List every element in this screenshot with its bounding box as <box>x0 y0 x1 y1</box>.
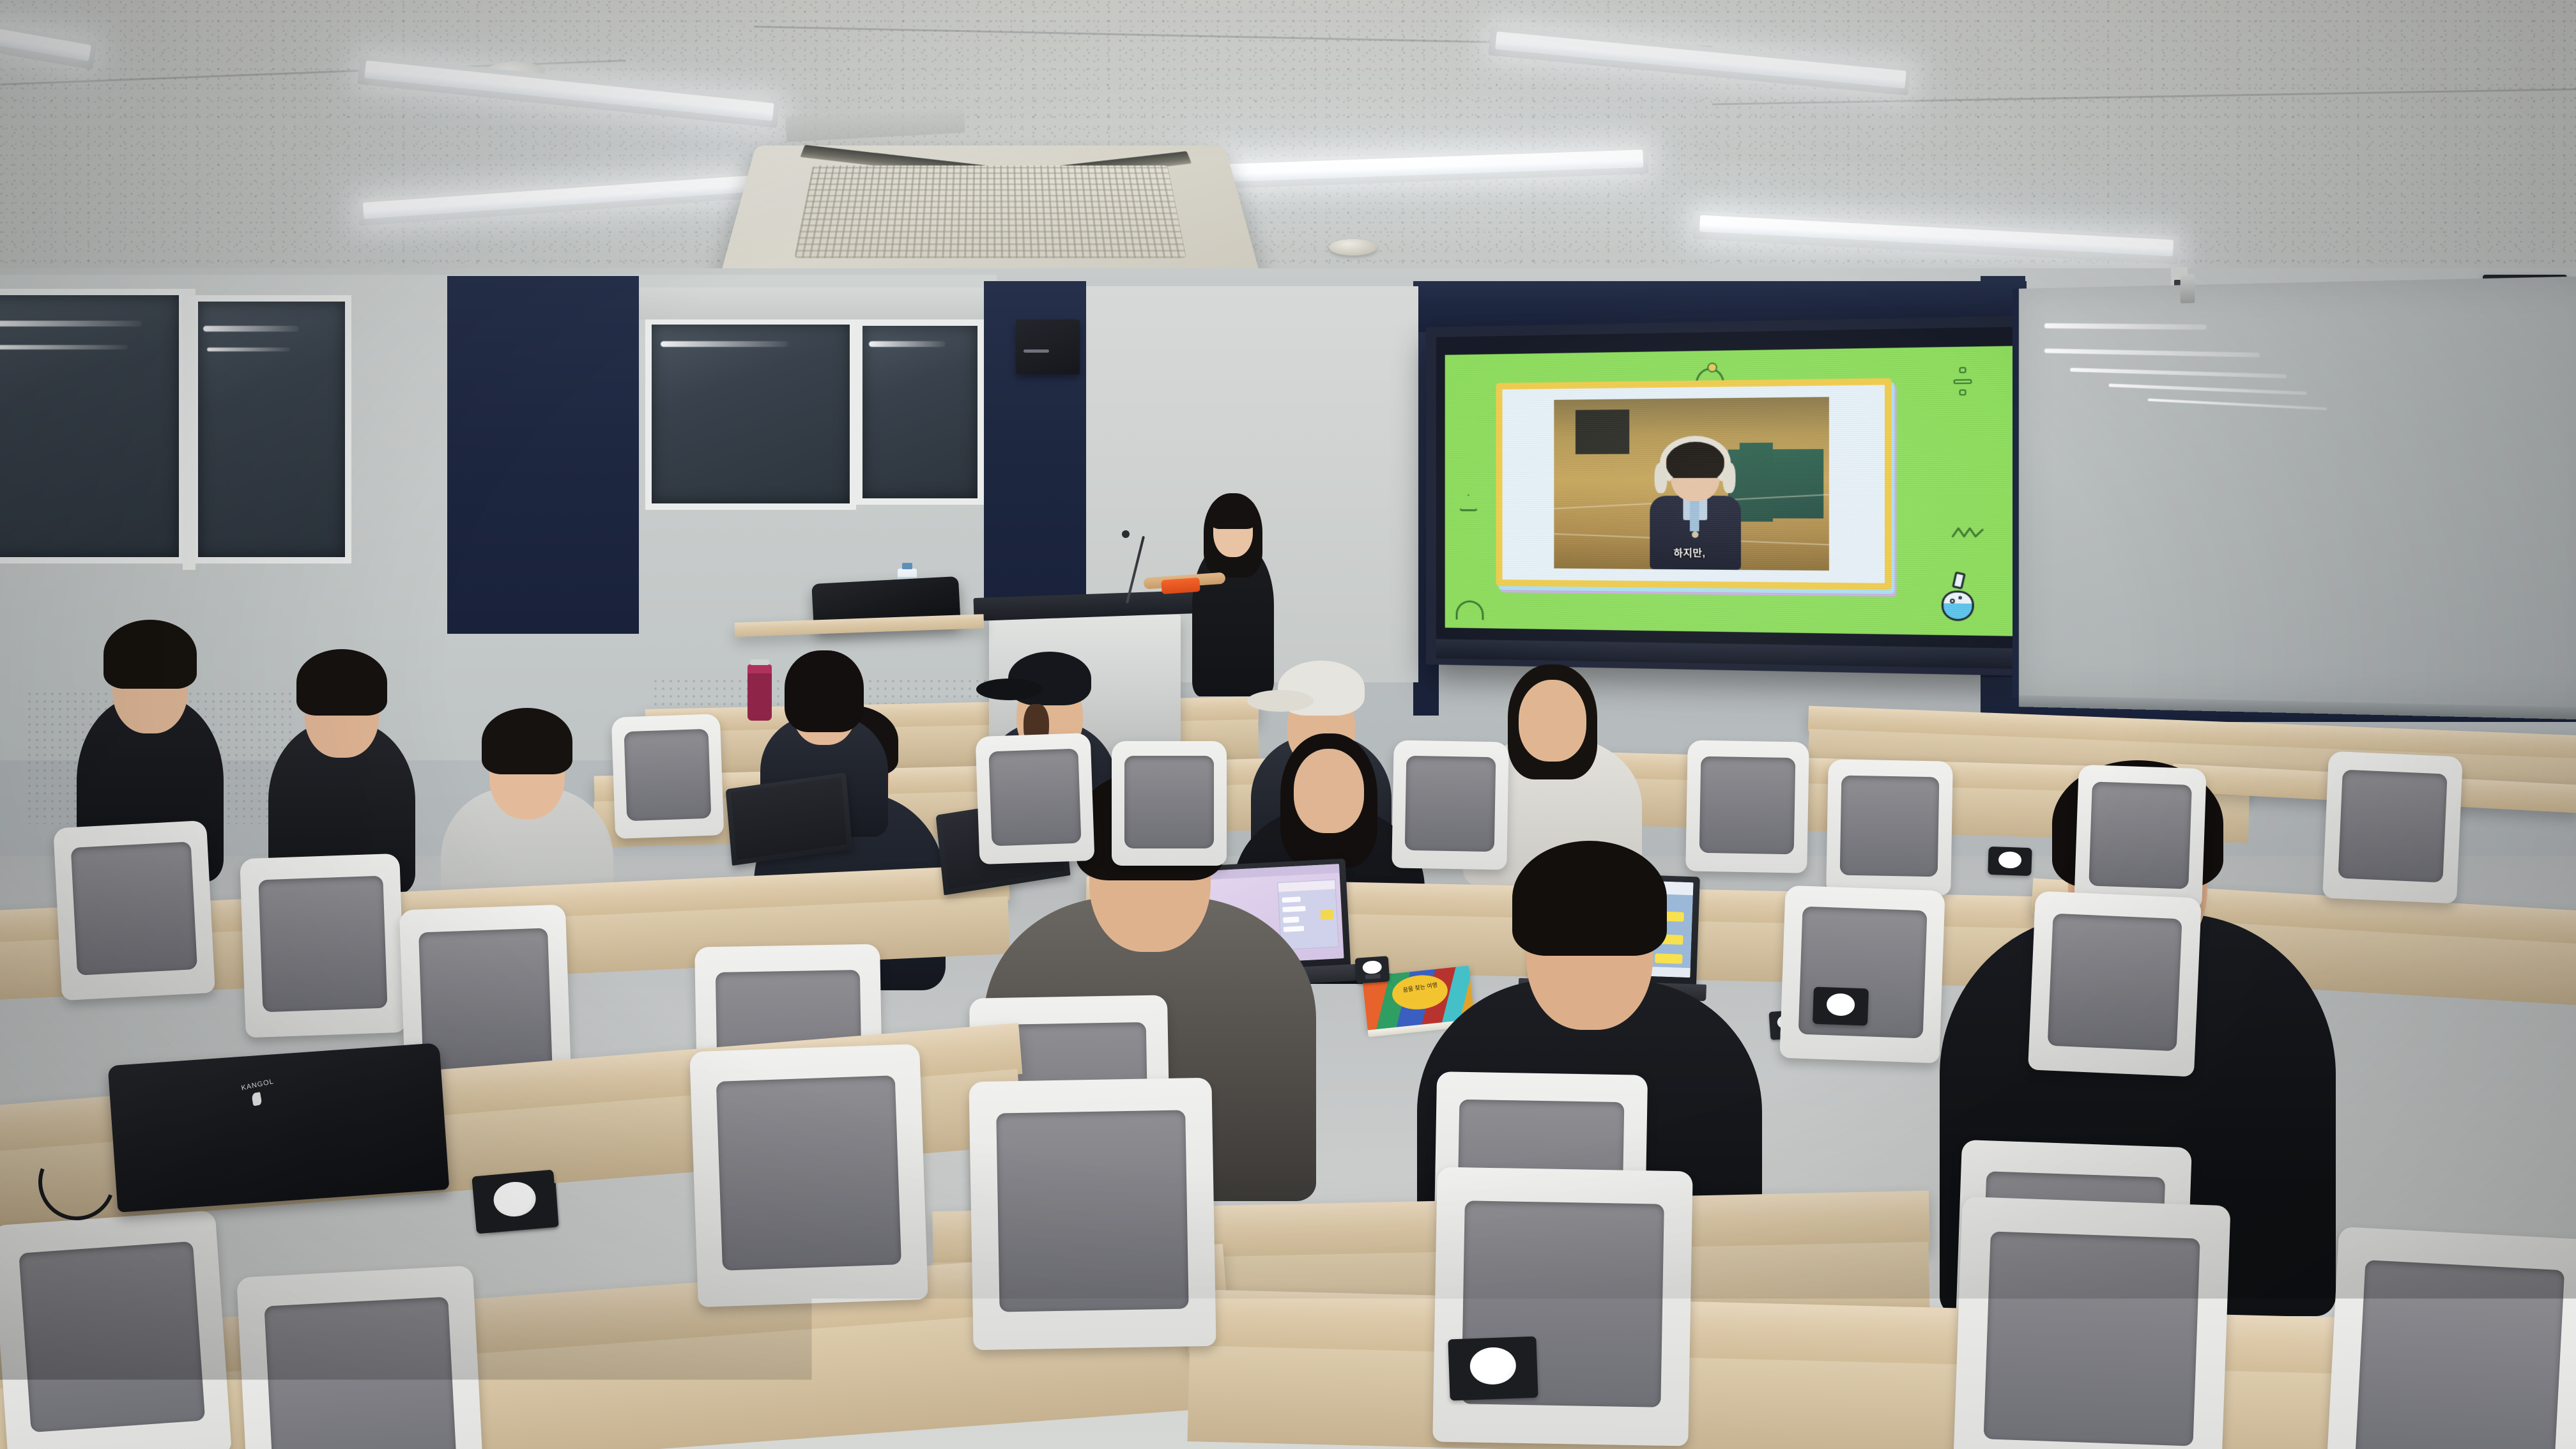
smartphone[interactable] <box>1813 987 1869 1026</box>
microphone-head <box>1122 530 1130 538</box>
division-sign-icon <box>1954 367 1972 395</box>
chair[interactable] <box>611 714 724 839</box>
chair[interactable] <box>1952 1197 2230 1449</box>
photo-mat: 하지만, <box>1503 385 1885 583</box>
chair[interactable] <box>236 1266 486 1449</box>
chair[interactable] <box>969 1078 1216 1351</box>
smartphone[interactable] <box>471 1170 558 1234</box>
chair[interactable] <box>1432 1167 1692 1446</box>
cap-brim <box>1247 690 1314 712</box>
window[interactable] <box>0 289 185 563</box>
photo-frame: 하지만, <box>1496 378 1892 590</box>
chair[interactable] <box>240 854 406 1038</box>
chair[interactable] <box>1779 885 1945 1064</box>
wall-panel <box>447 276 639 634</box>
window[interactable] <box>856 319 984 505</box>
video-still: 하지만, <box>1554 397 1828 571</box>
chair[interactable] <box>1112 741 1227 866</box>
chair[interactable] <box>1826 759 1953 895</box>
wall-speaker <box>1016 319 1080 374</box>
desk-power-outlet[interactable] <box>1355 956 1390 984</box>
lecture-hall-photo: 하지만, <box>0 0 2576 1449</box>
zigzag-icon <box>1951 526 1984 539</box>
chair[interactable] <box>0 1210 232 1449</box>
tumbler <box>747 664 772 721</box>
arc-icon <box>1455 601 1483 620</box>
chair[interactable] <box>976 733 1095 864</box>
whiteboard-clip <box>2181 274 2195 303</box>
interactive-display[interactable]: 하지만, <box>1426 316 2033 676</box>
video-subtitle: 하지만, <box>1554 545 1828 560</box>
window[interactable] <box>192 295 351 563</box>
backpack: KANGOL <box>108 1043 450 1213</box>
cap-brim <box>976 678 1043 700</box>
air-conditioner <box>717 146 1263 287</box>
orange-controller[interactable] <box>1161 578 1200 594</box>
backpack-brand-label: KANGOL <box>241 1078 275 1092</box>
window[interactable] <box>645 318 856 510</box>
smartphone[interactable] <box>1988 847 2032 876</box>
frame-hook-knob <box>1707 362 1717 372</box>
headphones-icon <box>1659 435 1731 490</box>
whiteboard[interactable] <box>2012 276 2576 711</box>
chair[interactable] <box>2028 891 2202 1077</box>
chair[interactable] <box>2074 765 2207 910</box>
chair[interactable] <box>1391 740 1508 870</box>
chair[interactable] <box>2325 1227 2576 1449</box>
chair[interactable] <box>2322 751 2463 904</box>
presentation-slide: 하지만, <box>1445 346 2014 636</box>
smartphone[interactable] <box>1448 1337 1538 1401</box>
chair[interactable] <box>53 820 215 1000</box>
chair[interactable] <box>1685 740 1809 873</box>
chair[interactable] <box>689 1044 928 1307</box>
flask-icon <box>1940 572 1981 621</box>
smoke-detector-icon <box>1329 239 1377 256</box>
